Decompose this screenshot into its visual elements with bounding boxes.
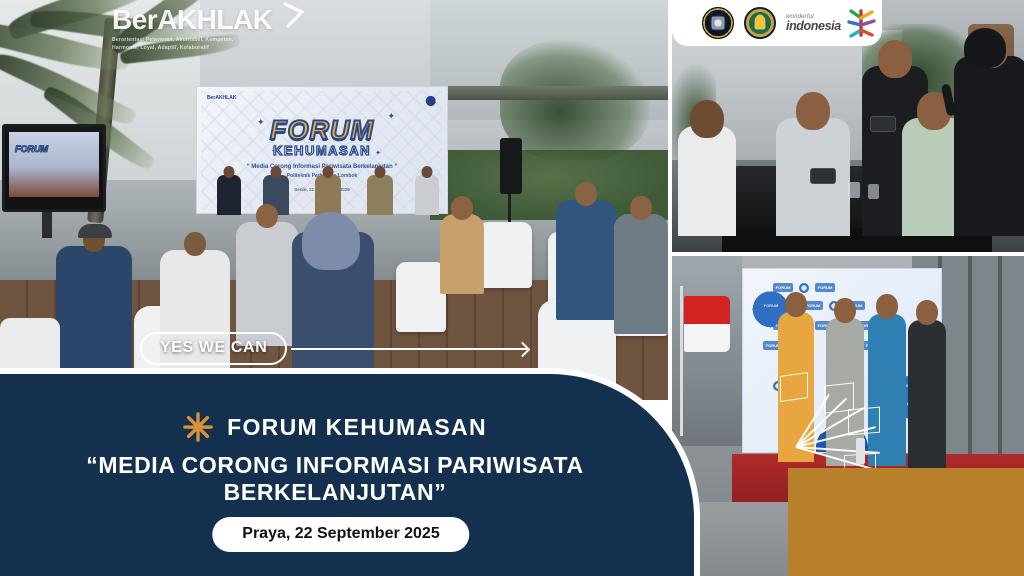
wonderful-indonesia-text: wonderful indonesia <box>786 14 841 33</box>
highlight-frame <box>780 372 808 402</box>
chair <box>478 222 532 288</box>
kemenparekraf-emblem <box>702 7 734 39</box>
speaker-stack <box>500 138 522 194</box>
monitor-forum-label: FORUM <box>15 144 48 154</box>
stage-backdrop: BerAKHLAK ✦ ✦ ✦ ✦ FORUM KEHUMASAN “ Medi… <box>196 86 448 214</box>
cap-icon <box>78 224 112 238</box>
yes-we-can-label: YES WE CAN <box>140 332 287 365</box>
backdrop-logo-right <box>393 94 439 108</box>
speaker <box>217 175 241 215</box>
backdrop-seal-icon <box>799 283 809 293</box>
backdrop-logo-tile: FORUM <box>815 283 835 292</box>
smartphone-icon <box>810 168 836 184</box>
hair <box>964 28 1006 68</box>
monitor-screen: FORUM <box>2 124 106 212</box>
banner-title: FORUM KEHUMASAN <box>227 414 487 441</box>
speaker-person <box>954 56 1024 236</box>
date-badge: Praya, 22 September 2025 <box>212 517 469 552</box>
smartphone-icon <box>870 116 896 132</box>
banner-title-row: FORUM KEHUMASAN <box>0 412 682 442</box>
audience-person <box>440 214 484 294</box>
poltekpar-lombok-emblem <box>744 7 776 39</box>
arrow-right-icon <box>291 348 527 350</box>
speaker <box>415 175 439 215</box>
speaker <box>315 175 341 215</box>
backdrop-subtitle: KEHUMASAN <box>197 143 447 158</box>
orange-accent-block <box>788 468 1024 576</box>
speaker <box>367 175 393 215</box>
audience-person <box>236 222 298 346</box>
audience-person <box>556 200 616 320</box>
backdrop-title: FORUM <box>197 115 447 146</box>
backdrop-logo-left: BerAKHLAK <box>207 95 236 101</box>
banner-subtitle: “MEDIA CORONG INFORMASI PARIWISATA BERKE… <box>0 452 682 506</box>
glassware <box>868 184 879 199</box>
palm-cluster-right <box>500 40 650 160</box>
hijab <box>302 212 360 270</box>
audience-person <box>614 214 668 334</box>
sanitizer-bottle <box>856 438 865 464</box>
roof-line <box>440 86 668 100</box>
monitor-stand <box>42 212 52 238</box>
backdrop-logo-tile: FORUM <box>761 301 781 310</box>
indonesia-label: indonesia <box>786 20 841 33</box>
group-person <box>868 314 906 466</box>
seated-person <box>678 126 736 236</box>
indonesia-flag-icon <box>684 296 730 352</box>
backdrop-logo-tile: FORUM <box>773 283 793 292</box>
starburst-icon <box>183 412 213 442</box>
yes-we-can-callout: YES WE CAN <box>140 332 527 365</box>
wonderful-indonesia-logo: wonderful indonesia <box>786 8 878 38</box>
wonderful-indonesia-mark-icon <box>844 8 878 38</box>
group-person <box>908 320 946 470</box>
chair <box>396 262 446 332</box>
monitor-content: FORUM <box>9 132 99 197</box>
title-banner: FORUM KEHUMASAN “MEDIA CORONG INFORMASI … <box>0 368 700 576</box>
glassware <box>848 182 860 198</box>
logo-card: wonderful indonesia <box>672 0 882 46</box>
poster-canvas: BerAKHLAK ✦ ✦ ✦ ✦ FORUM KEHUMASAN “ Medi… <box>0 0 1024 576</box>
